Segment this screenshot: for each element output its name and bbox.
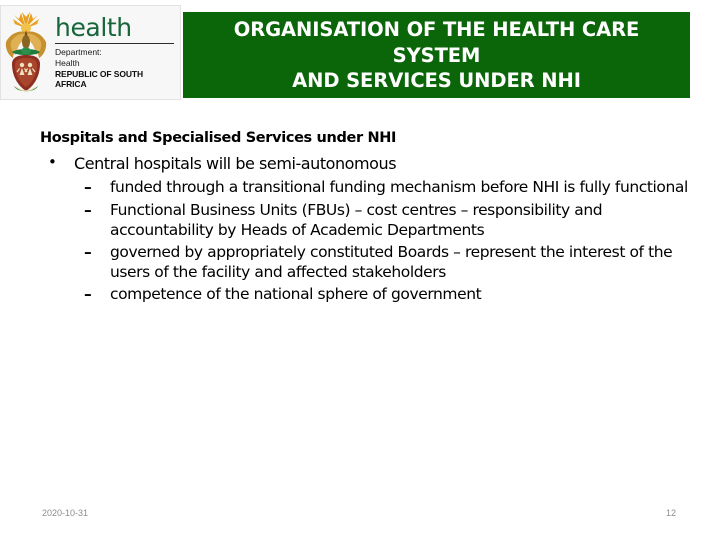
department-label: Department:: [55, 47, 176, 58]
bullet-list-level2: – funded through a transitional funding …: [74, 177, 688, 304]
dash-marker-icon: –: [84, 284, 91, 304]
list-item-text: Functional Business Units (FBUs) – cost …: [110, 201, 602, 239]
country-label: REPUBLIC OF SOUTH AFRICA: [55, 69, 176, 91]
list-item-text: governed by appropriately constituted Bo…: [110, 243, 672, 281]
bullet-marker-icon: •: [48, 153, 56, 173]
dash-marker-icon: –: [84, 242, 91, 262]
slide-content: Hospitals and Specialised Services under…: [40, 130, 688, 306]
list-item: – governed by appropriately constituted …: [74, 242, 688, 282]
slide: health Department: Health REPUBLIC OF SO…: [0, 0, 720, 540]
section-heading: Hospitals and Specialised Services under…: [40, 130, 688, 148]
footer-date: 2020-10-31: [42, 508, 88, 518]
list-item-text: competence of the national sphere of gov…: [110, 285, 481, 303]
list-item: – funded through a transitional funding …: [74, 177, 688, 197]
slide-title-banner: ORGANISATION OF THE HEALTH CARE SYSTEM A…: [183, 12, 690, 98]
list-item-text: funded through a transitional funding me…: [110, 178, 688, 196]
list-item: • Central hospitals will be semi-autonom…: [40, 154, 688, 305]
list-item: – competence of the national sphere of g…: [74, 284, 688, 304]
health-wordmark: health: [55, 15, 176, 40]
department-of-health-logo: health Department: Health REPUBLIC OF SO…: [0, 5, 181, 100]
logo-text-block: health Department: Health REPUBLIC OF SO…: [55, 15, 180, 91]
list-item-text: Central hospitals will be semi-autonomou…: [74, 154, 396, 173]
dash-marker-icon: –: [84, 177, 91, 197]
slide-title: ORGANISATION OF THE HEALTH CARE SYSTEM A…: [183, 12, 690, 94]
bullet-list-level1: • Central hospitals will be semi-autonom…: [40, 154, 688, 305]
logo-divider: [55, 43, 174, 44]
slide-header: health Department: Health REPUBLIC OF SO…: [0, 0, 720, 110]
department-name: Health: [55, 58, 176, 69]
south-africa-coat-of-arms-icon: [2, 8, 50, 98]
dash-marker-icon: –: [84, 200, 91, 220]
list-item: – Functional Business Units (FBUs) – cos…: [74, 200, 688, 240]
footer-page-number: 12: [666, 508, 676, 518]
